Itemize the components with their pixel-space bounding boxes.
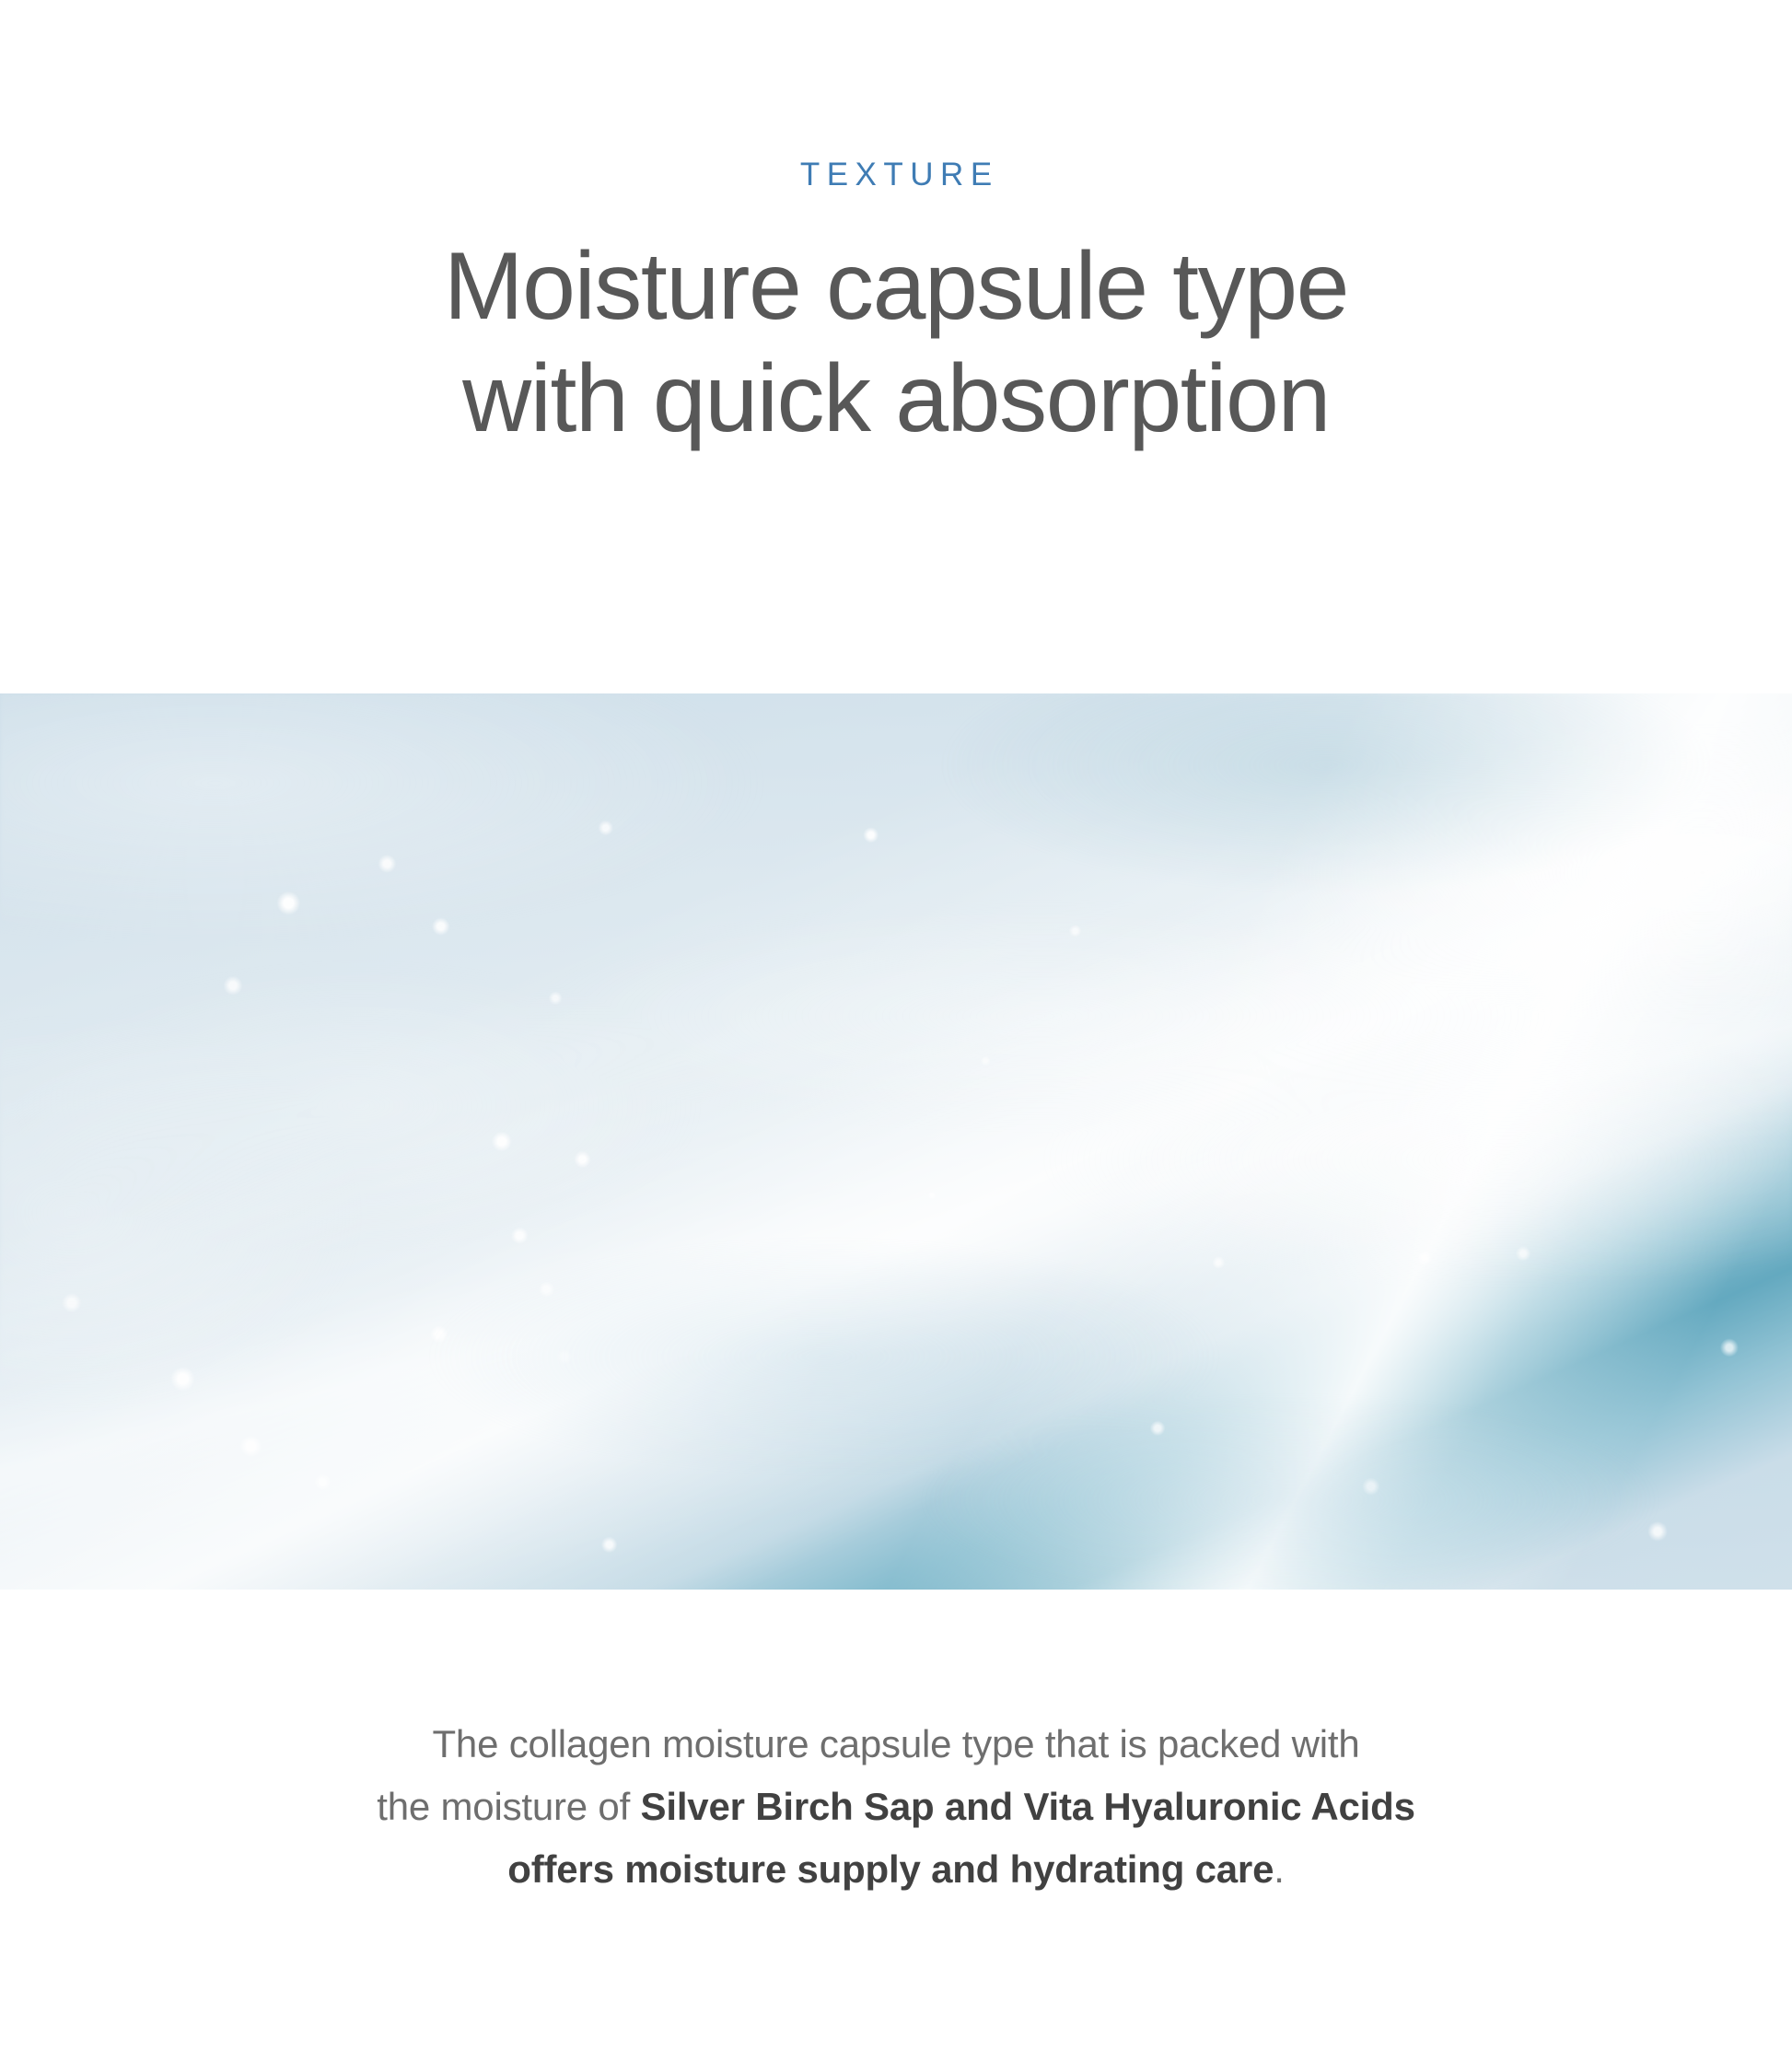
page-title: Moisture capsule type with quick absorpt… [0, 226, 1792, 455]
caption-line-1: The collagen moisture capsule type that … [0, 1713, 1792, 1776]
heading-line-2: with quick absorption [462, 344, 1330, 456]
caption-line-2-bold-text: Silver Birch Sap and Vita Hyaluronic Aci… [641, 1785, 1415, 1828]
caption-line-2: the moisture of Silver Birch Sap and Vit… [0, 1776, 1792, 1838]
caption-line-1-text: The collagen moisture capsule type that … [432, 1722, 1359, 1765]
caption-block: The collagen moisture capsule type that … [0, 1713, 1792, 1901]
texture-photo-gel-surface [0, 693, 1792, 1590]
caption-line-2-regular-text: the moisture of [377, 1785, 640, 1828]
heading-line-1: Moisture capsule type [444, 231, 1348, 344]
caption-line-3: offers moisture supply and hydrating car… [0, 1838, 1792, 1901]
caption-line-3-bold-text: offers moisture supply and hydrating car… [507, 1847, 1274, 1891]
texture-photo [0, 693, 1792, 1590]
eyebrow-container: TEXTURE [0, 0, 1792, 226]
section-eyebrow-label: TEXTURE [793, 158, 998, 191]
caption-line-3-period: . [1274, 1847, 1284, 1891]
texture-section-page: TEXTURE Moisture capsule type with quick… [0, 0, 1792, 2062]
